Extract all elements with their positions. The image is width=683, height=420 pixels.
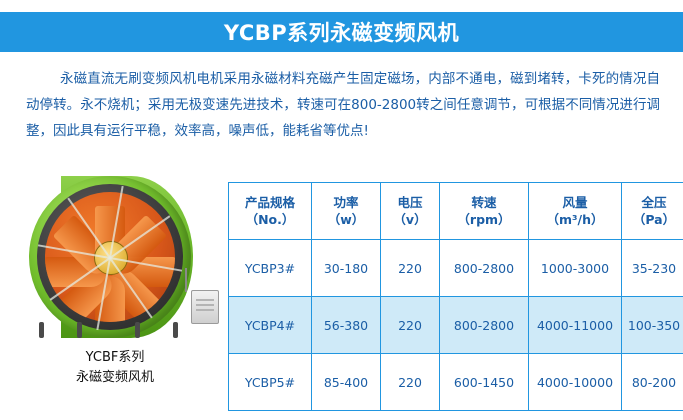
table-row: YCBP3# 30-180 220 800-2800 1000-3000 35-…: [229, 240, 683, 297]
cell-power: 85-400: [312, 354, 381, 411]
cell-airflow: 4000-11000: [529, 297, 622, 354]
controller-box: [191, 290, 219, 324]
cell-voltage: 220: [381, 240, 440, 297]
axial-fan-photo: [15, 172, 215, 342]
cell-voltage: 220: [381, 297, 440, 354]
product-caption-line1: YCBF系列: [10, 348, 220, 368]
fan-legs: [23, 322, 203, 340]
cell-power: 56-380: [312, 297, 381, 354]
cell-pressure: 80-200: [622, 354, 683, 411]
table-row: YCBP4# 56-380 220 800-2800 4000-11000 10…: [229, 297, 683, 354]
table-header-power: 功率 （w）: [312, 183, 381, 240]
product-caption-line2: 永磁变频风机: [10, 368, 220, 388]
product-caption: YCBF系列 永磁变频风机: [10, 348, 220, 388]
cell-voltage: 220: [381, 354, 440, 411]
spec-table: 产品规格 （No.） 功率 （w） 电压 （v） 转速 （rpm）: [228, 182, 683, 411]
cell-power: 30-180: [312, 240, 381, 297]
table-header-speed: 转速 （rpm）: [440, 183, 529, 240]
table-header-airflow: 风量 （m³/h）: [529, 183, 622, 240]
page-title: YCBP系列永磁变频风机: [224, 17, 459, 47]
fan-hub-label: [94, 241, 128, 275]
cell-airflow: 1000-3000: [529, 240, 622, 297]
cell-pressure: 100-350: [622, 297, 683, 354]
table-header-model: 产品规格 （No.）: [229, 183, 312, 240]
table-header-row: 产品规格 （No.） 功率 （w） 电压 （v） 转速 （rpm）: [229, 183, 683, 240]
cell-speed: 600-1450: [440, 354, 529, 411]
cell-airflow: 4000-10000: [529, 354, 622, 411]
spec-table-container: 产品规格 （No.） 功率 （w） 电压 （v） 转速 （rpm）: [228, 182, 668, 411]
intro-paragraph: 永磁直流无刷变频风机电机采用永磁材料充磁产生固定磁场，内部不通电，磁到堵转，卡死…: [26, 66, 660, 144]
cell-model: YCBP5#: [229, 354, 312, 411]
power-cable: [185, 268, 187, 292]
cell-speed: 800-2800: [440, 240, 529, 297]
product-figure: YCBF系列 永磁变频风机: [10, 172, 220, 402]
cell-model: YCBP3#: [229, 240, 312, 297]
cell-speed: 800-2800: [440, 297, 529, 354]
header-banner: YCBP系列永磁变频风机: [0, 12, 683, 52]
cell-model: YCBP4#: [229, 297, 312, 354]
table-header-pressure: 全压 （Pa）: [622, 183, 683, 240]
table-header-voltage: 电压 （v）: [381, 183, 440, 240]
page-root: YCBP系列永磁变频风机 永磁直流无刷变频风机电机采用永磁材料充磁产生固定磁场，…: [0, 0, 683, 420]
table-row: YCBP5# 85-400 220 600-1450 4000-10000 80…: [229, 354, 683, 411]
cell-pressure: 35-230: [622, 240, 683, 297]
